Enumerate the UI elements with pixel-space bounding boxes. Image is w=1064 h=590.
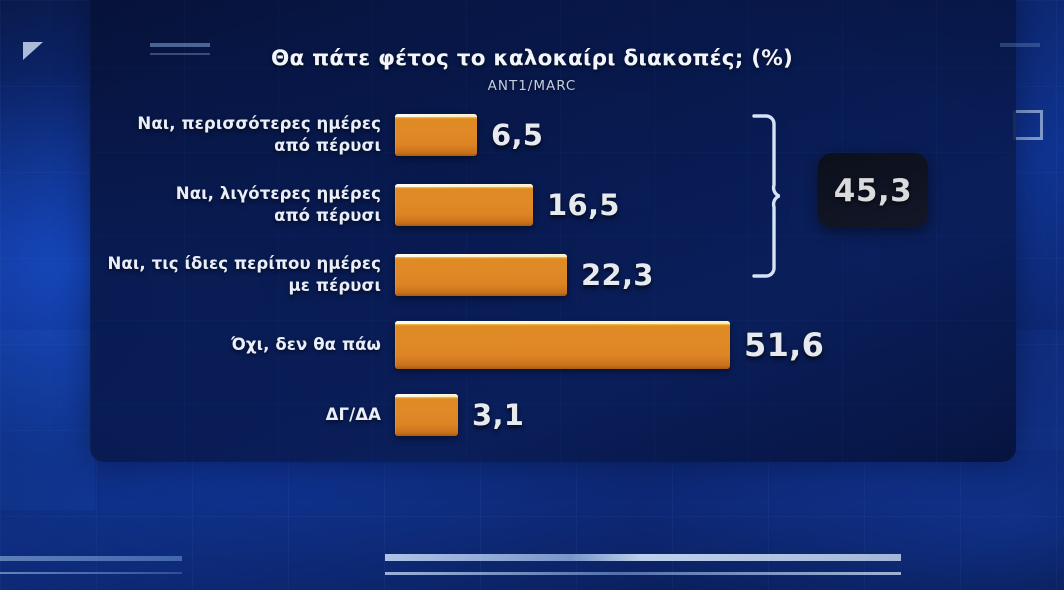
bar-category-label: Ναι, περισσότερες ημέρες από πέρυσι — [0, 113, 395, 157]
bar-shape — [395, 394, 458, 436]
bar-shape — [395, 254, 567, 296]
broadcast-graphic-stage: Θα πάτε φέτος το καλοκαίρι διακοπές; (%)… — [0, 0, 1064, 590]
bar-track: 3,1 — [395, 380, 1064, 450]
bar-value-label: 16,5 — [547, 188, 620, 222]
group-total-value: 45,3 — [834, 173, 913, 209]
decoration-line — [0, 556, 182, 561]
chart-row: Όχι, δεν θα πάω 51,6 — [0, 310, 1064, 380]
decoration-line — [385, 554, 901, 561]
bar-category-label: Ναι, λιγότερες ημέρες από πέρυσι — [0, 183, 395, 227]
decoration-line — [385, 572, 901, 575]
bar-track: 16,5 — [395, 170, 1064, 240]
chart-row: ΔΓ/ΔΑ 3,1 — [0, 380, 1064, 450]
bar-track: 51,6 — [395, 310, 1064, 380]
curly-brace-icon — [752, 113, 780, 279]
bar-category-label: Όχι, δεν θα πάω — [0, 334, 395, 356]
bottom-line-decoration-left — [0, 556, 182, 574]
chart-source-label: ΑΝΤ1/MARC — [0, 78, 1064, 94]
bar-category-label: ΔΓ/ΔΑ — [0, 404, 395, 426]
page-title: Θα πάτε φέτος το καλοκαίρι διακοπές; (%) — [0, 46, 1064, 71]
bar-track: 6,5 — [395, 100, 1064, 170]
bar-value-label: 22,3 — [581, 258, 654, 292]
bar-shape — [395, 184, 533, 226]
bar-shape — [395, 114, 477, 156]
decoration-line — [0, 572, 182, 574]
bar-category-label: Ναι, τις ίδιες περίπου ημέρες με πέρυσι — [0, 253, 395, 297]
bar-value-label: 51,6 — [744, 326, 824, 364]
bar-value-label: 3,1 — [472, 398, 524, 432]
bottom-line-decoration-center — [385, 554, 901, 575]
bar-value-label: 6,5 — [491, 118, 543, 152]
chart-row: Ναι, τις ίδιες περίπου ημέρες με πέρυσι … — [0, 240, 1064, 310]
bar-track: 22,3 — [395, 240, 1064, 310]
group-total-badge: 45,3 — [818, 153, 928, 228]
bar-shape — [395, 321, 730, 369]
